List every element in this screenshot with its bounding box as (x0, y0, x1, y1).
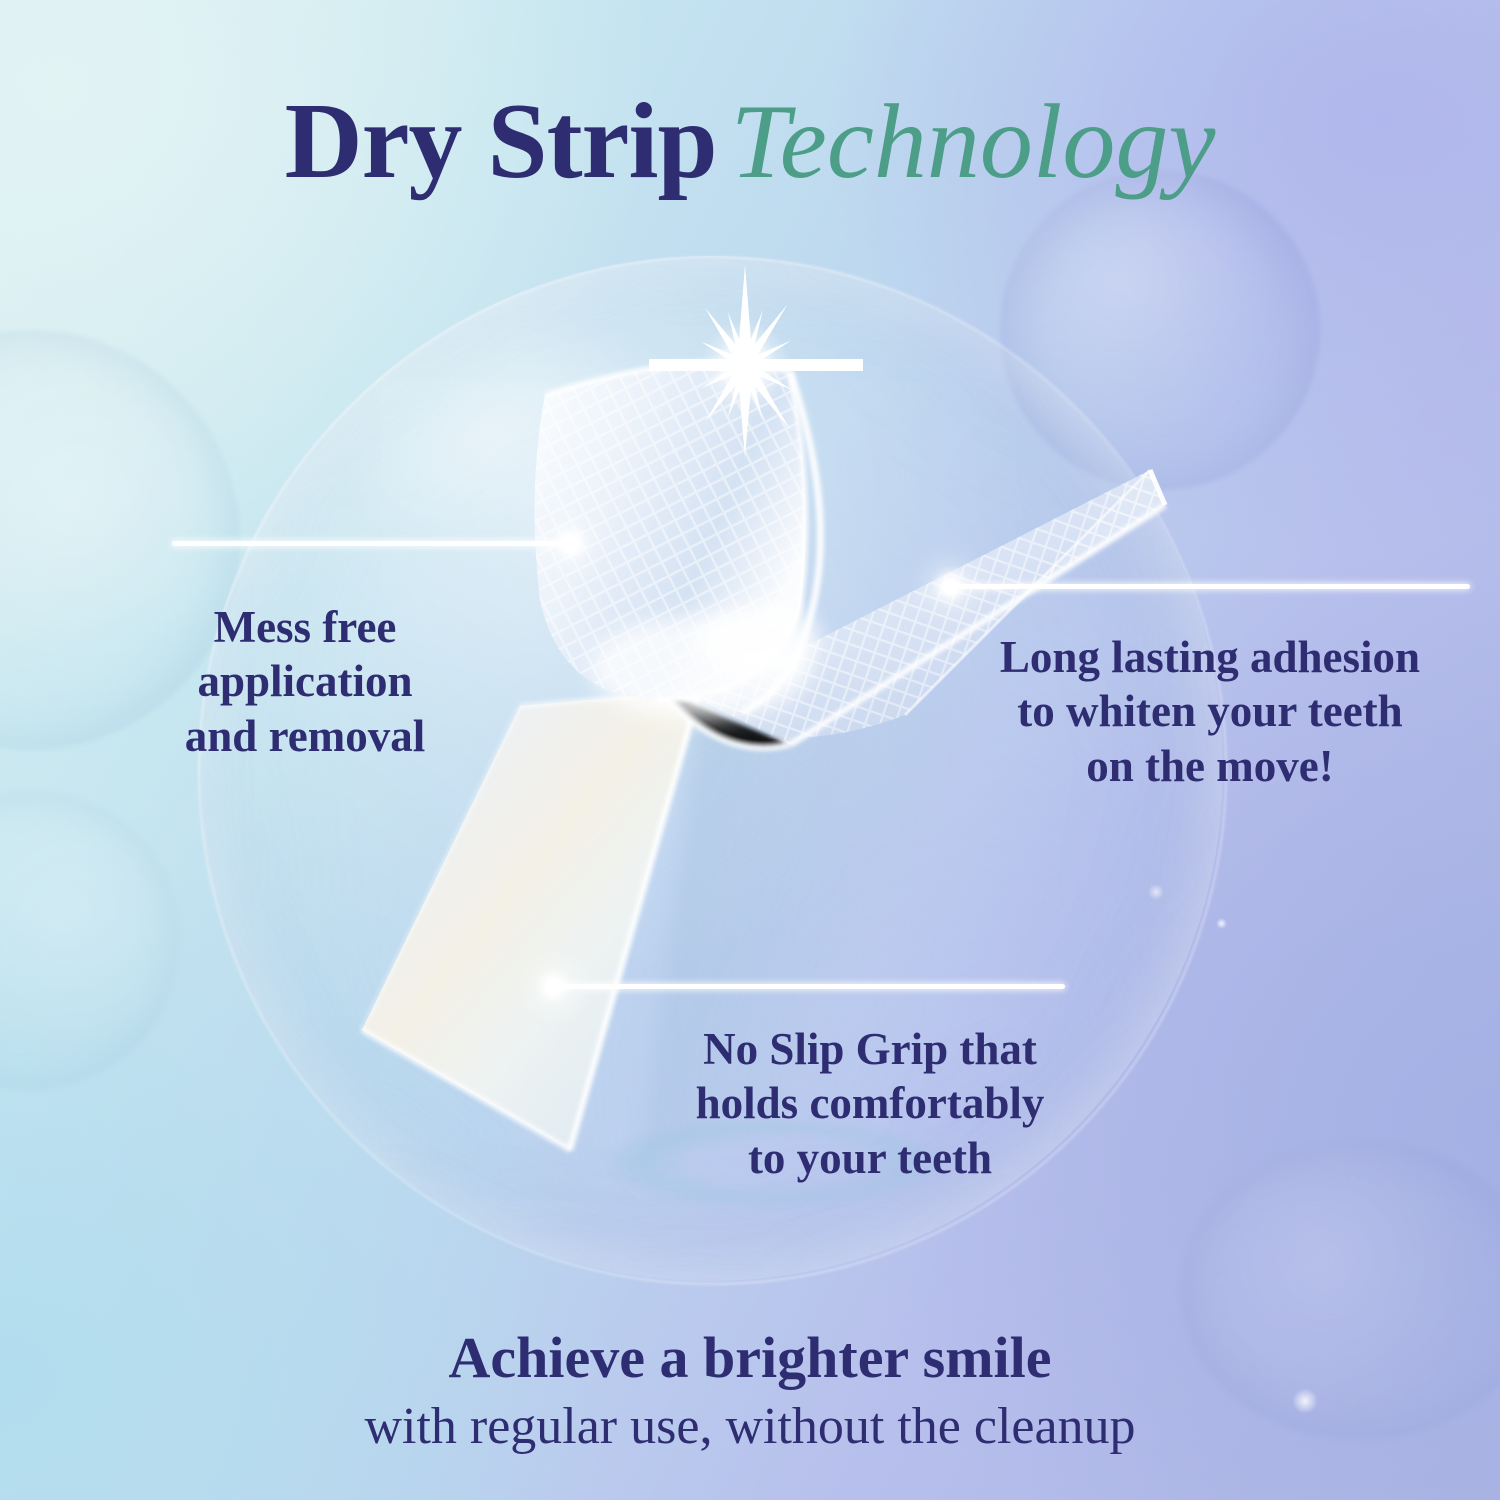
background-bubble-bottom-right (1180, 1140, 1500, 1440)
strip-fold-seam (742, 372, 820, 712)
background-bubble-bottom-left (0, 790, 180, 1090)
tagline-primary: Achieve a brighter smile (0, 1326, 1500, 1391)
page-title: Dry StripTechnology (0, 88, 1500, 196)
page-title-bold: Dry Strip (285, 82, 717, 201)
sphere-highlight (302, 264, 687, 596)
background-speck (1216, 918, 1227, 929)
starburst-sparkle-icon (649, 265, 863, 457)
background-bubble-top-right (1000, 170, 1320, 490)
callout-bottom-leader-line (560, 984, 1065, 989)
tagline-secondary: with regular use, without the cleanup (0, 1398, 1500, 1456)
callout-right-leader-line (958, 584, 1470, 589)
callout-bottom-marker-dot (545, 978, 562, 995)
callout-left-leader-line (172, 541, 570, 546)
dry-strip-technology-infographic: Dry StripTechnology (0, 0, 1500, 1500)
page-title-italic: Technology (731, 83, 1216, 200)
callout-mess-free: Mess free application and removal (110, 600, 500, 763)
callout-left-marker-dot (562, 535, 579, 552)
callout-long-lasting-adhesion: Long lasting adhesion to whiten your tee… (950, 630, 1470, 793)
callout-no-slip-grip: No Slip Grip that holds comfortably to y… (640, 1022, 1100, 1185)
callout-right-marker-dot (942, 578, 959, 595)
background-speck (1148, 884, 1164, 900)
